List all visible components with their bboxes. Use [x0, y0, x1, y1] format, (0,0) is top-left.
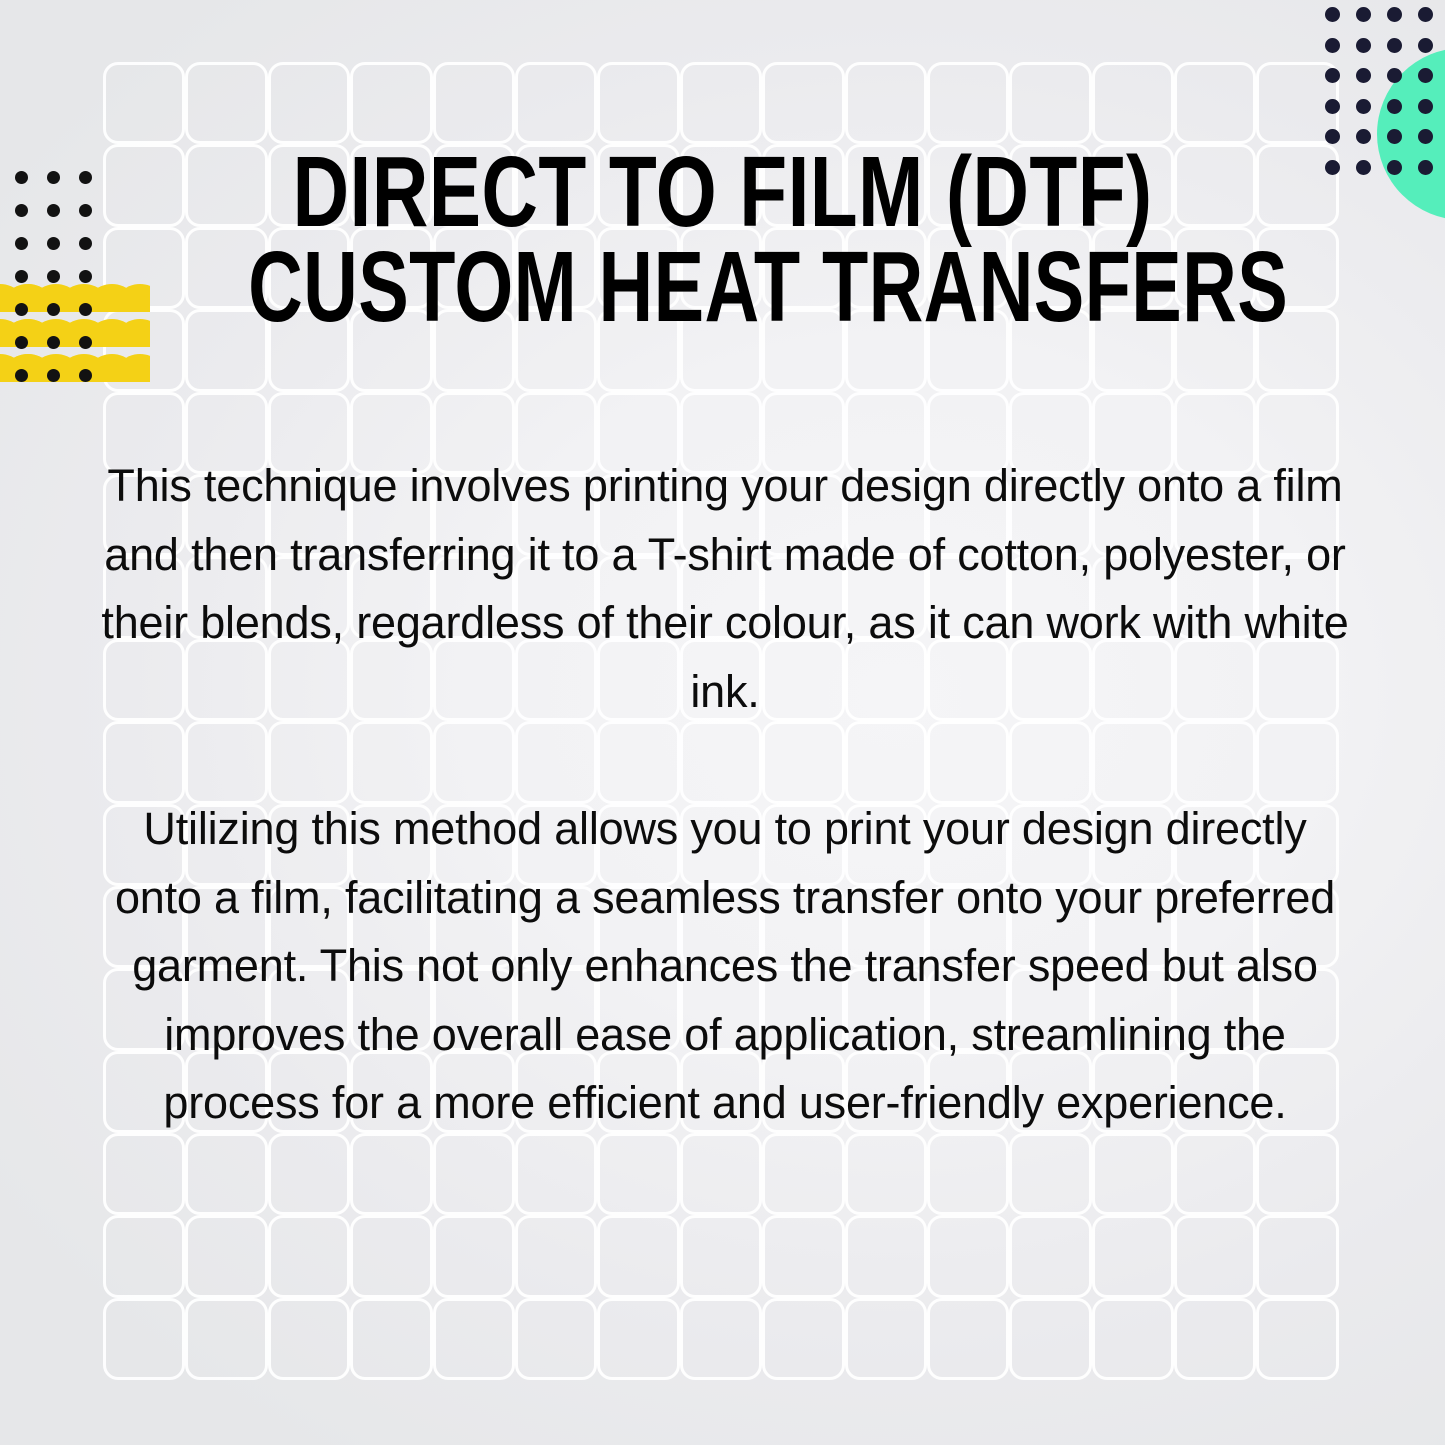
body-copy: This technique involves printing your de… — [100, 452, 1350, 1138]
title-line-1: DIRECT TO FILM (DTF) — [231, 145, 1213, 240]
paragraph-2: Utilizing this method allows you to prin… — [100, 795, 1350, 1138]
poster-canvas: DIRECT TO FILM (DTF) CUSTOM HEAT TRANSFE… — [0, 0, 1445, 1445]
page-title: DIRECT TO FILM (DTF) CUSTOM HEAT TRANSFE… — [96, 145, 1349, 335]
poster-content: DIRECT TO FILM (DTF) CUSTOM HEAT TRANSFE… — [0, 0, 1445, 1445]
paragraph-1: This technique involves printing your de… — [100, 452, 1350, 726]
title-line-2: CUSTOM HEAT TRANSFERS — [248, 240, 1197, 335]
